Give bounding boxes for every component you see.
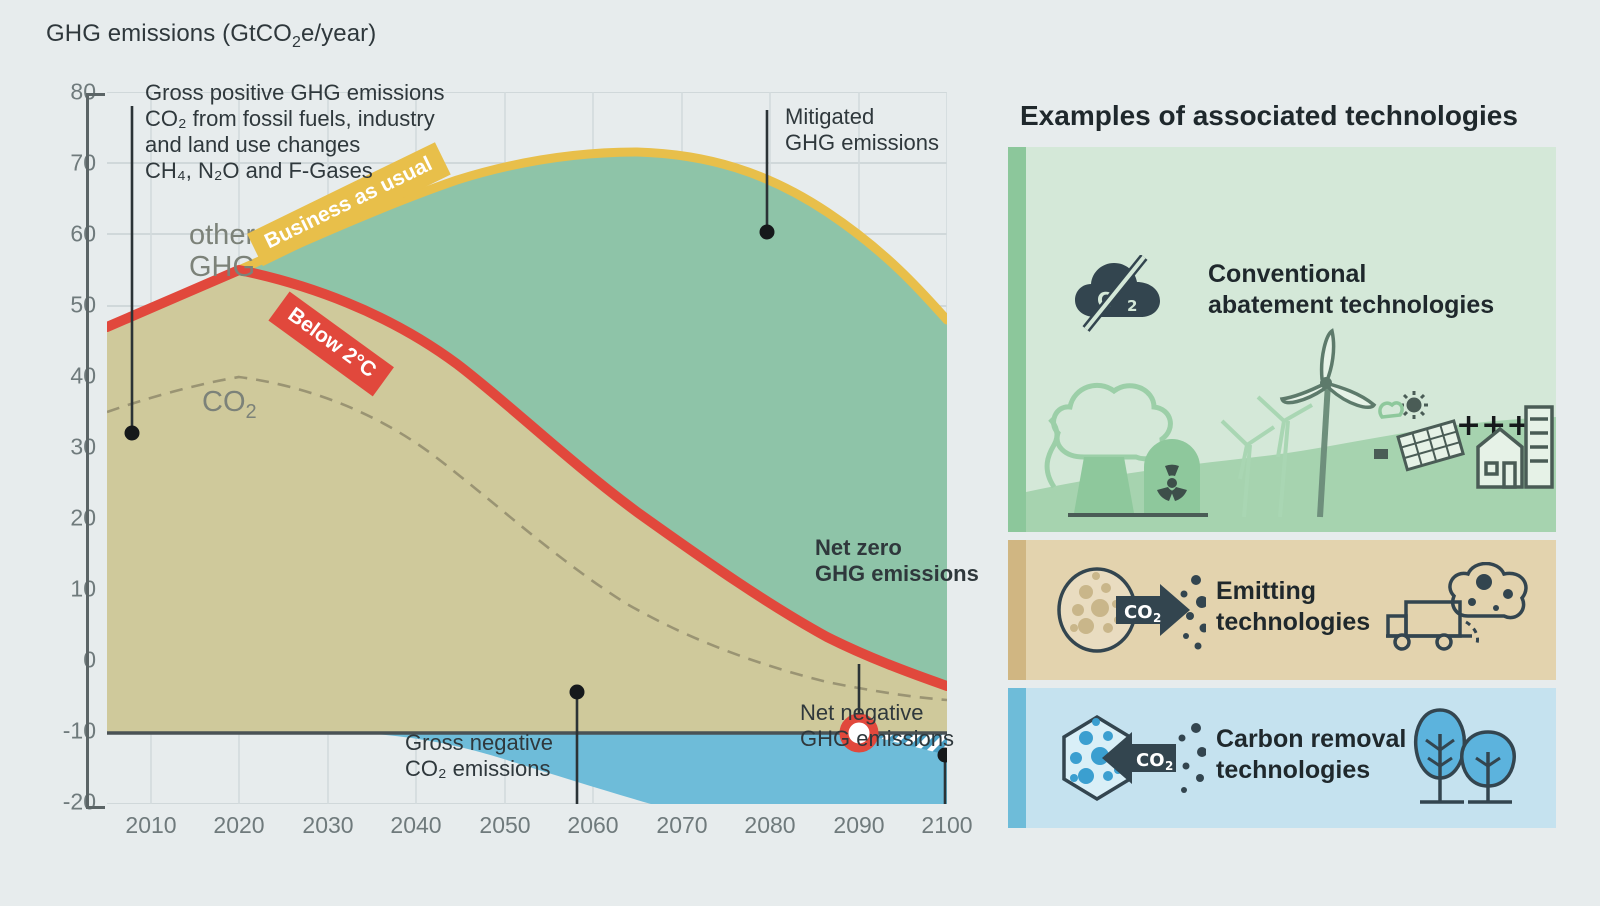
x-tick-2020: 2020 <box>213 812 264 839</box>
svg-text:2: 2 <box>1153 611 1161 625</box>
y-axis-bracket <box>86 93 105 809</box>
x-tick-2080: 2080 <box>744 812 795 839</box>
solar-panel-icon <box>1374 391 1463 470</box>
panel-accent-bar <box>1008 147 1026 532</box>
panel-label-carbon-removal: Carbon removal technologies <box>1216 724 1406 785</box>
technologies-title: Examples of associated technologies <box>1020 100 1518 132</box>
svg-text:2: 2 <box>1127 297 1137 315</box>
svg-text:2: 2 <box>1165 759 1173 773</box>
panel-accent-bar <box>1008 540 1026 680</box>
panel-carbon-removal-technologies[interactable]: CO 2 Carbon removal technologies <box>1008 688 1556 828</box>
leader-dot-gross-positive <box>125 426 140 441</box>
svg-text:CO: CO <box>1136 750 1165 771</box>
gross-positive-annotation: Gross positive GHG emissions CO₂ from fo… <box>145 80 445 184</box>
reactor-dome-icon <box>1144 439 1200 513</box>
panel-label-conventional: Conventional abatement technologies <box>1208 259 1494 320</box>
panel-emitting-technologies[interactable]: CO 2 Emitting technologies <box>1008 540 1556 680</box>
other-ghg-area-label: other GHG <box>189 220 255 284</box>
panel-accent-bar <box>1008 688 1026 828</box>
co2-area-label: CO2 <box>202 387 257 423</box>
panel-conventional-abatement[interactable]: C 2 Conventional abatement technologies <box>1008 147 1556 532</box>
chart-title: GHG emissions (GtCO2e/year) <box>46 20 376 52</box>
x-tick-2050: 2050 <box>479 812 530 839</box>
x-tick-2090: 2090 <box>833 812 884 839</box>
trees-icon <box>1406 704 1526 812</box>
x-tick-2100: 2100 <box>921 812 972 839</box>
technologies-column: Examples of associated technologies C 2 … <box>1008 0 1588 906</box>
power-plant-wind-solar-landscape: +++ <box>1026 317 1556 532</box>
cooling-tower-icon <box>1074 457 1134 513</box>
co2-arrow-right-icon: CO 2 <box>1056 564 1206 656</box>
svg-text:CO: CO <box>1124 602 1153 623</box>
mitigated-annotation: Mitigated GHG emissions <box>785 104 939 156</box>
leader-dot-gross-negative <box>570 685 585 700</box>
plot-area: other GHG CO2 Business as usual Below 2°… <box>107 92 947 804</box>
x-tick-2070: 2070 <box>656 812 707 839</box>
truck-exhaust-icon <box>1380 562 1540 658</box>
x-tick-2060: 2060 <box>567 812 618 839</box>
x-axis-labels: 2010 2020 2030 2040 2050 2060 2070 2080 … <box>107 812 947 852</box>
truck-shape <box>1386 602 1472 649</box>
leader-dot-mitigated <box>760 225 775 240</box>
x-tick-2030: 2030 <box>302 812 353 839</box>
co2-arrow-left-hexagon-icon: CO 2 <box>1056 712 1206 804</box>
leaf-icon <box>1380 403 1402 417</box>
x-tick-2040: 2040 <box>390 812 441 839</box>
gross-negative-annotation: Gross negative CO₂ emissions <box>405 730 553 782</box>
net-negative-annotation: Net negative GHG emissions <box>800 700 954 752</box>
sun-icon <box>1400 391 1428 419</box>
x-tick-2010: 2010 <box>125 812 176 839</box>
battery-icon <box>1374 449 1388 459</box>
panel-label-emitting: Emitting technologies <box>1216 576 1370 637</box>
emissions-chart: GHG emissions (GtCO2e/year) 80 70 60 50 … <box>0 0 1000 906</box>
net-zero-annotation: Net zero GHG emissions <box>815 535 979 587</box>
